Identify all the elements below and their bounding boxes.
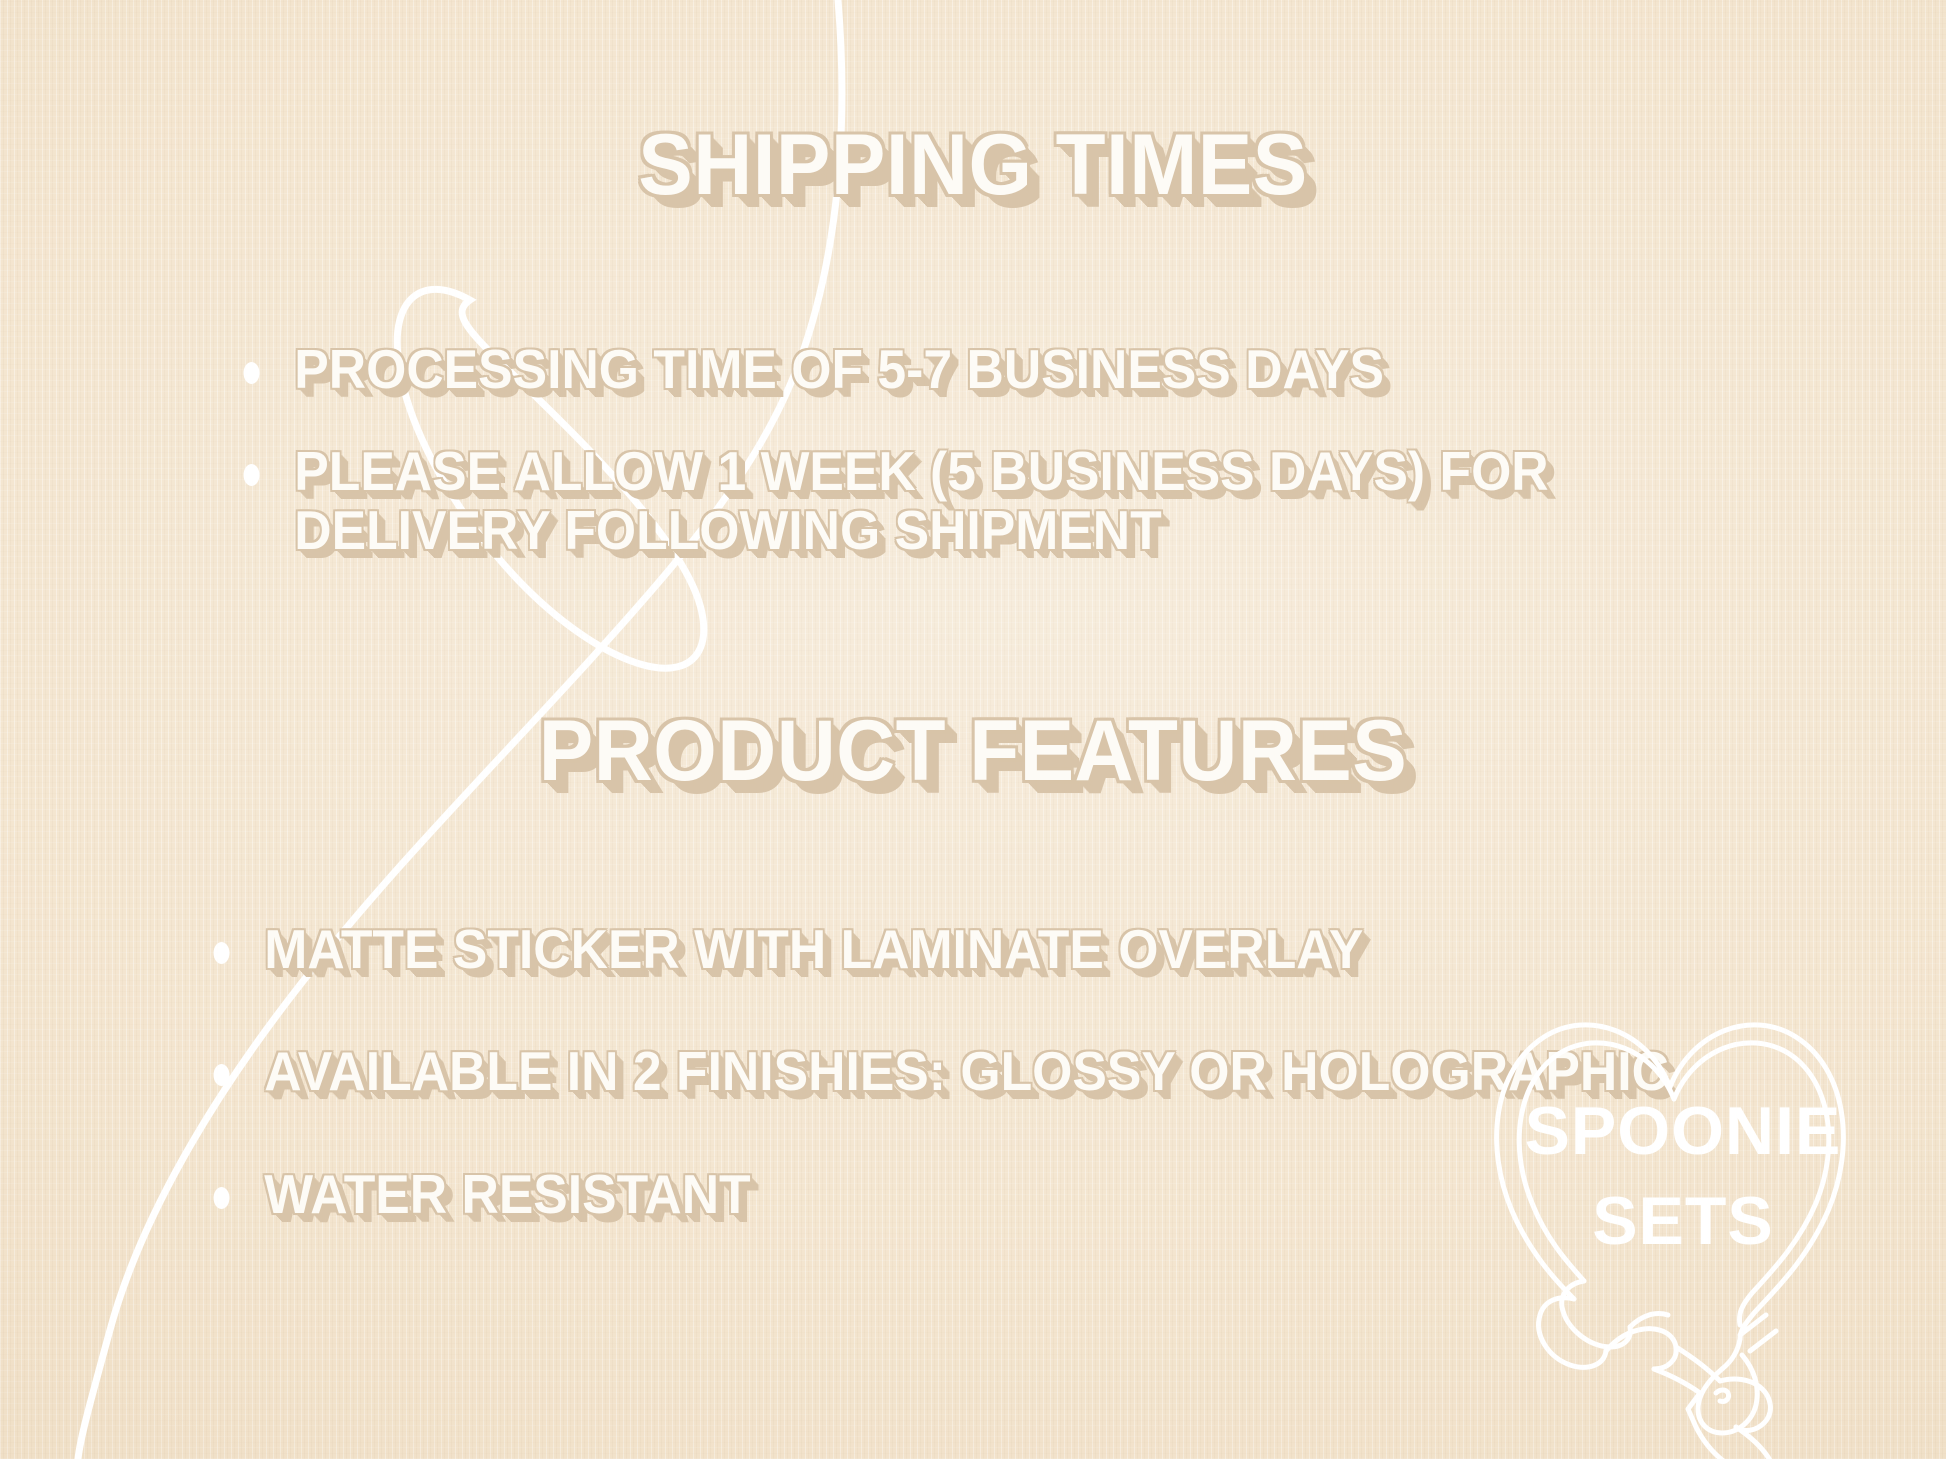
slide-canvas: SHIPPING TIMES PROCESSING TIME OF 5-7 BU… bbox=[0, 0, 1946, 1459]
list-item: PROCESSING TIME OF 5-7 BUSINESS DAYS bbox=[236, 340, 1796, 398]
shipping-times-bullet-list: PROCESSING TIME OF 5-7 BUSINESS DAYS PLE… bbox=[236, 340, 1896, 603]
brand-logo: SPOONIE SETS bbox=[1448, 995, 1918, 1459]
slide-content: SHIPPING TIMES PROCESSING TIME OF 5-7 BU… bbox=[0, 0, 1946, 1459]
heart-stethoscope-icon bbox=[1448, 995, 1918, 1459]
page-title-shipping-times: SHIPPING TIMES bbox=[49, 122, 1898, 208]
list-item: PLEASE ALLOW 1 WEEK (5 BUSINESS DAYS) FO… bbox=[236, 442, 1796, 559]
list-item: MATTE STICKER WITH LAMINATE OVERLAY bbox=[206, 920, 1672, 978]
page-title-product-features: PRODUCT FEATURES bbox=[49, 708, 1898, 794]
